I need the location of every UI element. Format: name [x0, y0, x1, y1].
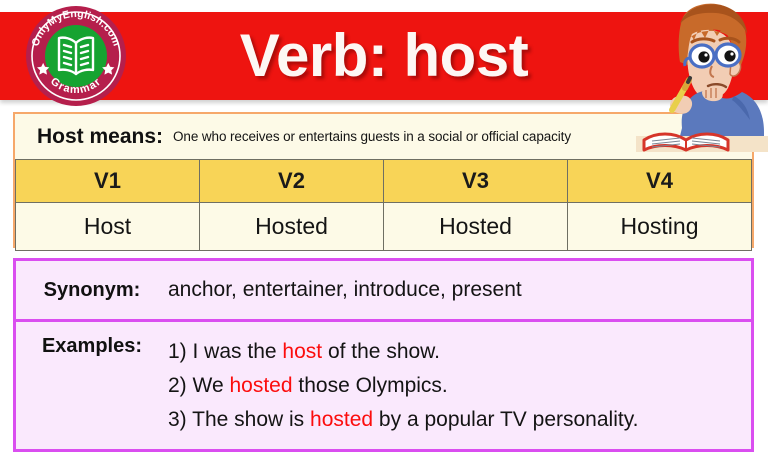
verb-form-v1: Host: [16, 203, 200, 251]
example-item: 3) The show is hosted by a popular TV pe…: [168, 403, 751, 437]
verb-form-v4: Hosting: [568, 203, 752, 251]
meaning-label: Host means:: [37, 125, 163, 149]
logo-badge-icon: OnlyMyEnglish.com Grammar: [24, 4, 128, 108]
verb-form-v3: Hosted: [384, 203, 568, 251]
details-box: Synonym: anchor, entertainer, introduce,…: [13, 258, 754, 452]
example-text-before: I was the: [193, 340, 283, 363]
example-number: 1): [168, 340, 193, 363]
example-item: 2) We hosted those Olympics.: [168, 369, 751, 403]
examples-list: 1) I was the host of the show. 2) We hos…: [168, 335, 751, 437]
column-header-v1: V1: [16, 160, 200, 203]
verb-form-v2: Hosted: [200, 203, 384, 251]
synonym-value: anchor, entertainer, introduce, present: [168, 278, 522, 302]
table-row: Host Hosted Hosted Hosting: [16, 203, 752, 251]
synonym-row: Synonym: anchor, entertainer, introduce,…: [16, 261, 751, 322]
example-text-after: by a popular TV personality.: [373, 408, 638, 431]
example-number: 3): [168, 408, 192, 431]
example-highlight-word: host: [282, 340, 322, 363]
example-text-after: of the show.: [322, 340, 440, 363]
example-item: 1) I was the host of the show.: [168, 335, 751, 369]
examples-label: Examples:: [16, 335, 168, 358]
table-header-row: V1 V2 V3 V4: [16, 160, 752, 203]
synonym-label: Synonym:: [16, 279, 168, 302]
column-header-v3: V3: [384, 160, 568, 203]
verb-forms-table: V1 V2 V3 V4 Host Hosted Hosted Hosting: [15, 159, 752, 251]
example-text-before: We: [193, 374, 230, 397]
column-header-v4: V4: [568, 160, 752, 203]
column-header-v2: V2: [200, 160, 384, 203]
examples-row: Examples: 1) I was the host of the show.…: [16, 322, 751, 437]
meaning-text: One who receives or entertains guests in…: [173, 129, 571, 144]
example-highlight-word: hosted: [310, 408, 373, 431]
example-text-after: those Olympics.: [293, 374, 448, 397]
example-text-before: The show is: [192, 408, 310, 431]
example-number: 2): [168, 374, 193, 397]
example-highlight-word: hosted: [229, 374, 292, 397]
site-logo[interactable]: OnlyMyEnglish.com Grammar: [24, 4, 128, 108]
thinking-student-illustration: [636, 0, 768, 152]
